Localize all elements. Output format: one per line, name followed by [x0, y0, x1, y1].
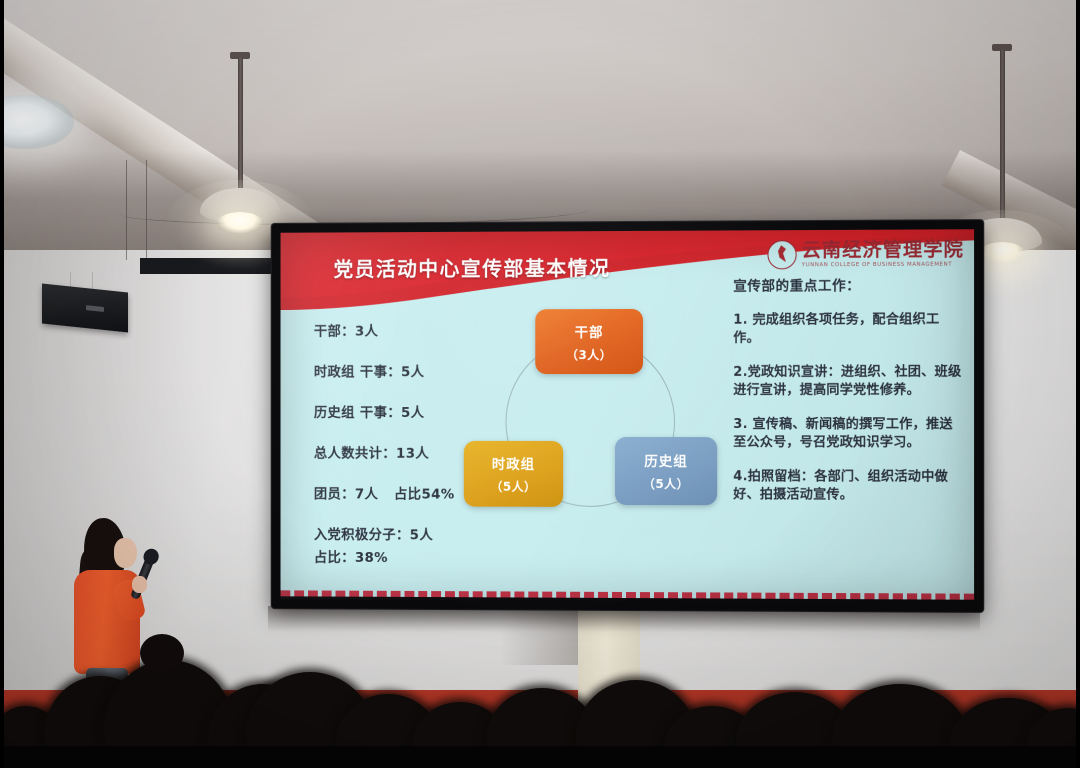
org-cycle-diagram: 干部 （3人） 时政组 （5人） 历史组 （5人）	[458, 309, 747, 550]
audience-hair-bun	[140, 634, 184, 672]
duties-item: 2.党政知识宣讲：进组织、社团、班级进行宣讲，提高同学党性修养。	[733, 363, 962, 400]
presentation-display[interactable]: 党员活动中心宣传部基本情况 云南经济管理学院 YUNNAN COLLEGE OF…	[272, 220, 984, 612]
school-logo: 云南经济管理学院 YUNNAN COLLEGE OF BUSINESS MANA…	[767, 239, 963, 269]
diagram-node-cadre[interactable]: 干部 （3人）	[535, 309, 643, 374]
photo-bottom-edge	[0, 746, 1080, 768]
duties-item: 1. 完成组织各项任务，配合组织工作。	[733, 311, 962, 349]
photo-left-edge	[0, 0, 4, 768]
duties-item: 3. 宣传稿、新闻稿的撰写工作，推送至公众号，号召党政知识学习。	[733, 416, 962, 453]
duties-heading: 宣传部的重点工作：	[733, 274, 962, 295]
slide-title: 党员活动中心宣传部基本情况	[334, 252, 611, 282]
duties-item: 4.拍照留档：各部门、组织活动中做好、拍摄活动宣传。	[733, 468, 962, 506]
node-label: 历史组	[644, 450, 688, 470]
stats-member-count: 团员：7人	[314, 482, 378, 502]
presenter-hand	[132, 576, 147, 593]
node-label: 干部	[575, 321, 604, 341]
photo-scene: 党员活动中心宣传部基本情况 云南经济管理学院 YUNNAN COLLEGE OF…	[0, 0, 1080, 768]
diagram-node-history-group[interactable]: 历史组 （5人）	[615, 437, 717, 505]
slide-canvas: 党员活动中心宣传部基本情况 云南经济管理学院 YUNNAN COLLEGE OF…	[281, 229, 975, 603]
pendant-lamp-left	[200, 52, 280, 232]
duties-column: 宣传部的重点工作： 1. 完成组织各项任务，配合组织工作。 2.党政知识宣讲：进…	[733, 274, 962, 521]
node-count: （5人）	[490, 478, 536, 495]
stats-line: 占比：38%	[314, 546, 512, 567]
school-name-cn: 云南经济管理学院	[802, 240, 964, 261]
school-emblem-icon	[767, 240, 796, 269]
school-name-en: YUNNAN COLLEGE OF BUSINESS MANAGEMENT	[802, 262, 964, 268]
speaker-hanger-b	[92, 272, 93, 290]
node-count: （5人）	[643, 475, 689, 492]
diagram-node-current-affairs-group[interactable]: 时政组 （5人）	[464, 441, 563, 507]
node-count: （3人）	[566, 346, 612, 363]
presenter-face	[114, 538, 137, 568]
school-logo-text: 云南经济管理学院 YUNNAN COLLEGE OF BUSINESS MANA…	[802, 240, 964, 269]
photo-right-edge	[1076, 0, 1080, 768]
stats-member-percent: 占比54%	[394, 483, 455, 503]
lamp-rod	[1000, 50, 1005, 222]
node-label: 时政组	[492, 453, 535, 473]
pendant-lamp-right	[962, 44, 1042, 244]
lamp-rod	[238, 58, 243, 192]
